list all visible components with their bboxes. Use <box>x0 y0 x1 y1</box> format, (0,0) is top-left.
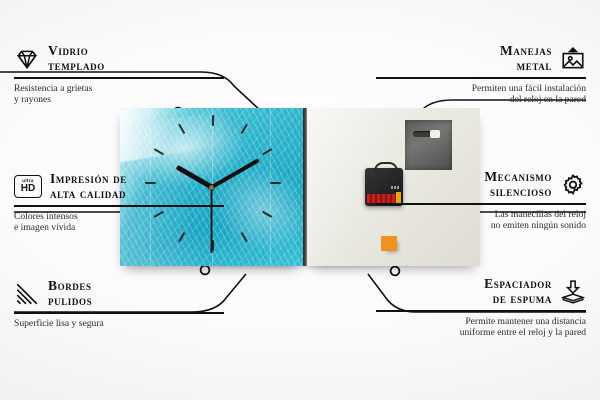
callout-desc: Resistencia a grietas y rayones <box>14 83 224 106</box>
press-down-icon <box>560 279 586 305</box>
hour-mark <box>212 115 214 126</box>
wall-frame-icon <box>560 46 586 72</box>
hour-mark <box>240 232 247 243</box>
callout-title-line2: silencioso <box>484 185 552 200</box>
hour-mark <box>261 148 272 155</box>
callout-title-line2: templado <box>48 59 105 74</box>
callout-desc: Las manecillas del reloj no emiten ningú… <box>376 209 586 232</box>
callout-title-line1: Manejas <box>500 43 552 58</box>
callout-rule <box>14 205 224 207</box>
hour-mark <box>240 124 247 135</box>
callout-header: ultra HD Impresión de alta calidad <box>14 172 224 201</box>
callout-rule <box>376 203 586 205</box>
callout-desc: Superficie lisa y segura <box>14 318 224 330</box>
hour-mark <box>153 148 164 155</box>
callout-desc-line2: no emiten ningún sonido <box>376 220 586 232</box>
callout-desc-line1: Las manecillas del reloj <box>376 209 586 221</box>
callout-rule <box>14 312 224 314</box>
callout-desc-line2: del reloj en la pared <box>376 94 586 106</box>
callout-desc: Colores intensos e imagen vívida <box>14 211 224 234</box>
callout-rule <box>376 310 586 312</box>
foam-spacer <box>381 236 397 251</box>
callout-desc-line2: uniforme entre el reloj y la pared <box>376 327 586 339</box>
callout-desc-line1: Permite mantener una distancia <box>376 316 586 328</box>
callout-title: Espaciador de espuma <box>484 277 552 306</box>
callout-title: Impresión de alta calidad <box>50 172 127 201</box>
callout-espaciador: Espaciador de espuma Permite mantener un… <box>376 277 586 339</box>
diamond-icon <box>14 46 40 72</box>
callout-title: Vidrio templado <box>48 44 105 73</box>
callout-desc: Permite mantener una distancia uniforme … <box>376 316 586 339</box>
callout-desc-line1: Superficie lisa y segura <box>14 318 224 330</box>
callout-header: Vidrio templado <box>14 44 224 73</box>
callout-desc-line1: Permiten una fácil instalación <box>376 83 586 95</box>
infographic-stage: Vidrio templado Resistencia a grietas y … <box>0 0 600 400</box>
callout-header: Manejas metal <box>376 44 586 73</box>
polished-edge-icon <box>14 281 40 307</box>
metal-hanger-plate <box>405 120 452 170</box>
gear-icon <box>560 172 586 198</box>
callout-title: Bordes pulidos <box>48 279 92 308</box>
callout-impresion: ultra HD Impresión de alta calidad Color… <box>14 172 224 234</box>
callout-title-line1: Mecanismo <box>484 169 552 184</box>
callout-desc-line1: Resistencia a grietas <box>14 83 224 95</box>
callout-title-line1: Espaciador <box>484 276 552 291</box>
ultra-hd-big-text: HD <box>21 184 35 194</box>
hour-mark <box>270 182 281 184</box>
callout-title-line1: Vidrio <box>48 43 88 58</box>
callout-title-line2: de espuma <box>484 292 552 307</box>
callout-desc-line1: Colores intensos <box>14 211 224 223</box>
callout-title-line2: alta calidad <box>50 187 127 202</box>
callout-title: Mecanismo silencioso <box>484 170 552 199</box>
callout-title: Manejas metal <box>500 44 552 73</box>
callout-desc-line2: e imagen vívida <box>14 222 224 234</box>
callout-header: Espaciador de espuma <box>376 277 586 306</box>
hour-mark <box>178 124 185 135</box>
callout-header: Mecanismo silencioso <box>376 170 586 199</box>
callout-rule <box>376 77 586 79</box>
callout-title-line2: metal <box>500 59 552 74</box>
ultra-hd-icon: ultra HD <box>14 175 42 198</box>
callout-title-line2: pulidos <box>48 294 92 309</box>
callout-desc: Permiten una fácil instalación del reloj… <box>376 83 586 106</box>
callout-manejas: Manejas metal Permiten una fácil instala… <box>376 44 586 106</box>
hour-mark <box>261 211 272 218</box>
callout-rule <box>14 77 224 79</box>
callout-desc-line2: y rayones <box>14 94 224 106</box>
callout-mecanismo: Mecanismo silencioso Las manecillas del … <box>376 170 586 232</box>
callout-vidrio: Vidrio templado Resistencia a grietas y … <box>14 44 224 106</box>
callout-bordes: Bordes pulidos Superficie lisa y segura <box>14 279 224 329</box>
callout-title-line1: Impresión de <box>50 171 127 186</box>
callout-title-line1: Bordes <box>48 278 92 293</box>
callout-header: Bordes pulidos <box>14 279 224 308</box>
hanger-slot <box>413 131 439 137</box>
